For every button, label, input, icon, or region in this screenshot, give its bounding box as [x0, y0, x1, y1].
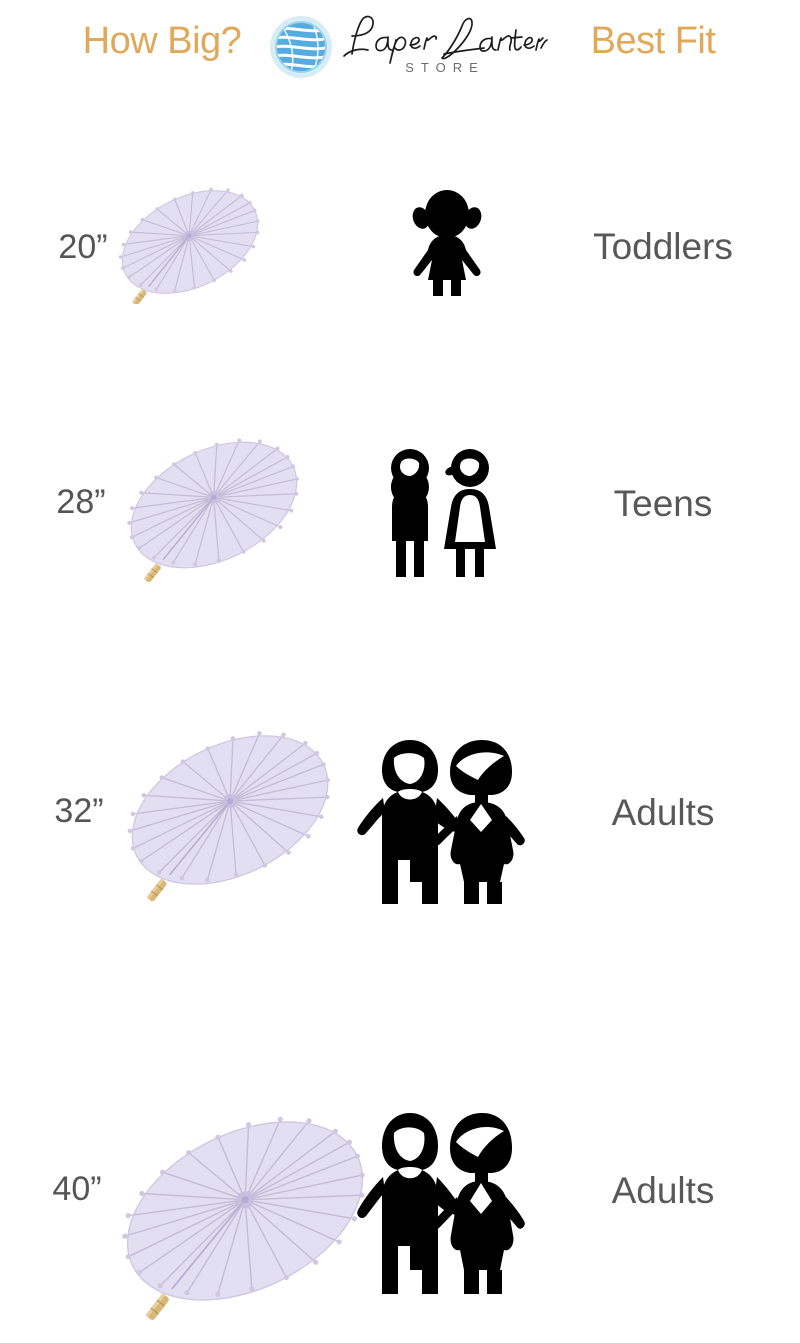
- fit-label-3: Adults: [538, 1170, 788, 1212]
- parasol-40-inch: [100, 1093, 380, 1343]
- parasol-size-infographic: How Big?: [0, 0, 800, 800]
- adult-couple-icon: [352, 1104, 532, 1304]
- fit-label-2: Adults: [538, 792, 788, 834]
- table-row: 28”: [0, 215, 800, 370]
- infographic-header: How Big?: [0, 0, 800, 92]
- column-header-best-fit: Best Fit: [548, 18, 758, 64]
- brand-script-name: [338, 10, 548, 64]
- brand-wordmark: STORE: [338, 10, 548, 82]
- paper-lantern-globe-icon: [268, 14, 334, 80]
- table-row: 32”: [0, 360, 800, 550]
- table-row: 20”: [0, 88, 800, 220]
- brand-subtitle-store: STORE: [370, 60, 520, 75]
- brand-logo: STORE: [268, 8, 548, 88]
- column-header-how-big: How Big?: [62, 18, 262, 64]
- table-row: 40”: [0, 548, 800, 788]
